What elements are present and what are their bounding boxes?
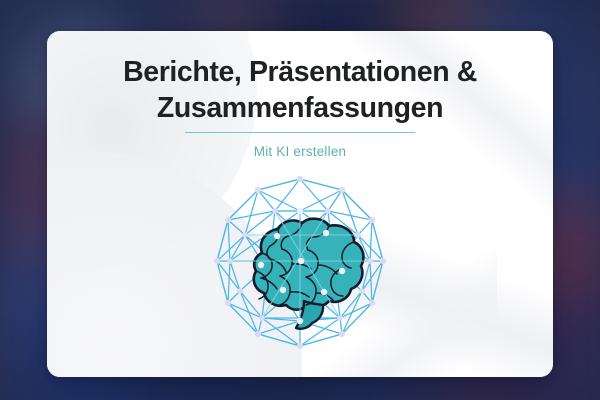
card-content: Berichte, Präsentationen & Zusammenfassu… <box>47 31 553 377</box>
brain-graphic <box>230 211 370 329</box>
page-title-line-1: Berichte, Präsentationen & <box>65 54 535 90</box>
page-title-line-2: Zusammenfassungen <box>65 90 535 126</box>
brain-network-svg <box>200 173 400 358</box>
page-title: Berichte, Präsentationen & Zusammenfassu… <box>65 54 535 126</box>
ai-brain-network-illustration <box>200 173 400 358</box>
title-divider <box>185 132 415 133</box>
page-subtitle: Mit KI erstellen <box>254 144 346 159</box>
content-card: Berichte, Präsentationen & Zusammenfassu… <box>47 31 553 377</box>
